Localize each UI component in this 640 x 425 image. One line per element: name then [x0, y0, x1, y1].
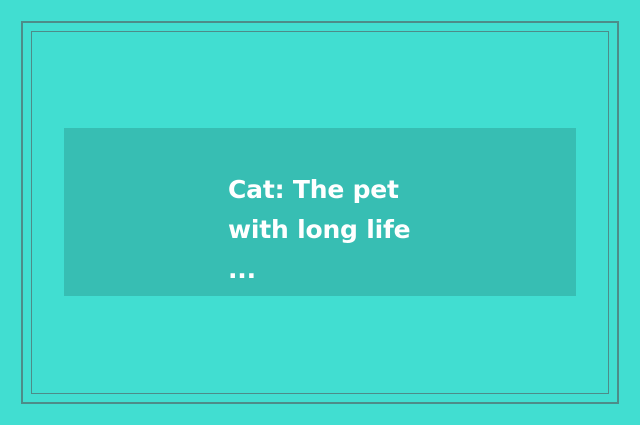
thumbnail-card: Cat: The pet with long life ...: [0, 0, 640, 425]
caption-overlay-panel: Cat: The pet with long life ...: [64, 128, 576, 296]
caption-headline: Cat: The pet with long life ...: [228, 170, 428, 290]
